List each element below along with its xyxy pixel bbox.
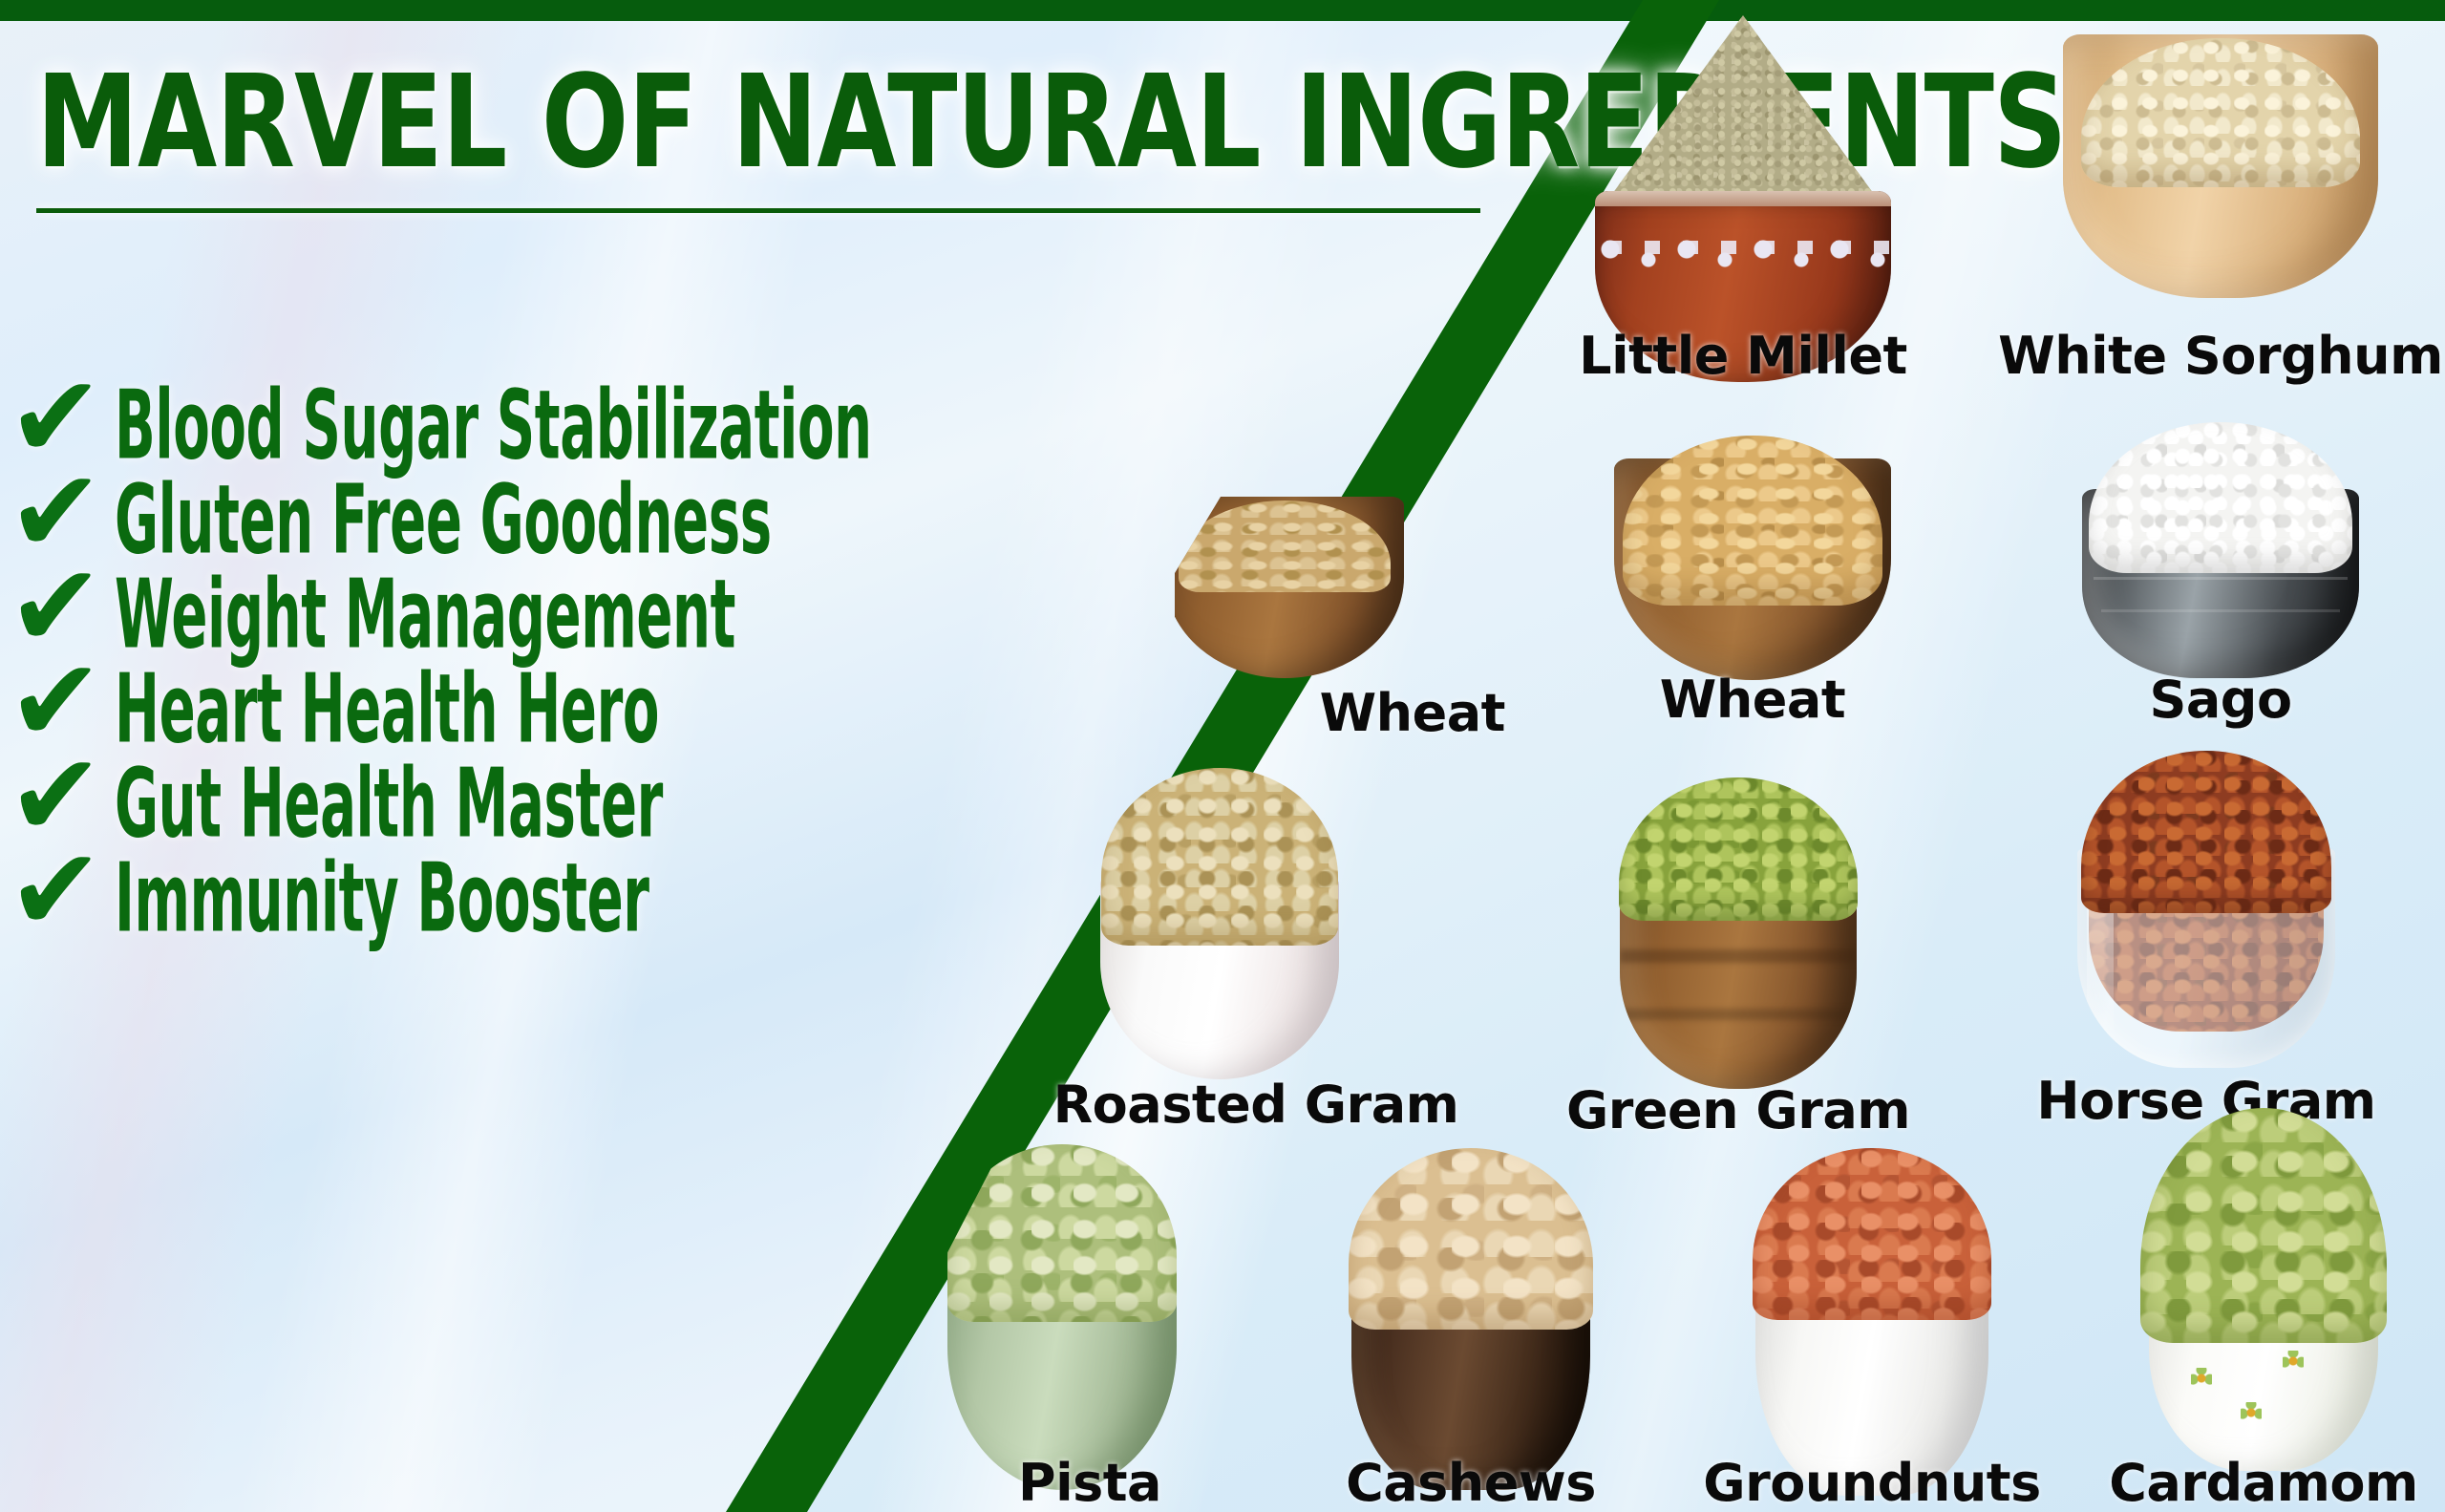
ingredient-label: Wheat [1660,670,1845,730]
ingredient-label: Little Millet [1579,326,1907,386]
food-heap [947,1144,1177,1322]
ingredient-label: White Sorghum [1998,326,2443,386]
floral-motif [2241,1402,2262,1423]
ingredient-cell-pista: Pista [869,1127,1270,1509]
bowl-ridge [2094,577,2348,580]
ingredient-label: Roasted Gram [1053,1075,1459,1135]
bowl-dot-pattern [1595,229,1891,269]
ingredient-cell-white-sorghum: White Sorghum [1996,13,2445,382]
ingredient-cell-wheat-1: Wheat [1175,458,1519,745]
floral-motif [2191,1368,2212,1389]
ingredient-cell-green-gram: Green Gram [1514,755,1963,1137]
floral-motif [2283,1351,2304,1372]
ingredient-label: Cardamom [2109,1453,2417,1512]
bowl-stage [869,1127,1270,1509]
ingredient-label: Sago [2149,670,2291,730]
bowl-stage [1270,1127,1671,1509]
bowl-stage [2073,1098,2445,1509]
food-heap [1619,777,1858,921]
poster-canvas: MARVEL OF NATURAL INGREDIENTS ✔ Blood Su… [0,0,2445,1512]
ingredient-cell-cardamom: Cardamom [2073,1098,2445,1509]
bowl-stage [1514,755,1963,1137]
wood-grain [1620,949,1857,963]
bowl-ridge [2101,609,2340,612]
food-heap [1101,768,1338,946]
wood-grain [1620,1009,1857,1020]
food-heap [2089,422,2352,573]
food-heap [1349,1148,1593,1330]
ingredient-cell-horse-gram: Horse Gram [1982,735,2431,1127]
ingredient-cell-cashews: Cashews [1270,1127,1671,1509]
ingredient-cell-wheat-2: Wheat [1528,401,1977,726]
ingredient-cell-groundnuts: Groundnuts [1671,1127,2073,1509]
ingredient-label: Cashews [1346,1453,1596,1512]
ingredient-label: Wheat [1320,683,1505,743]
food-heap [1753,1148,1991,1320]
bowl-rim [1595,191,1891,206]
ingredient-cell-sago: Sago [1996,401,2445,726]
food-heap [1605,15,1882,204]
food-heap [2140,1108,2387,1343]
ingredient-cell-little-millet: Little Millet [1519,10,1967,382]
ingredient-grid: Little Millet White Sorghum Wheat [0,0,2445,1512]
bowl-stage [1671,1127,2073,1509]
ingredient-label: Pista [1018,1453,1161,1509]
ingredient-label: Groundnuts [1703,1453,2040,1512]
bowl-stage [1982,735,2431,1127]
food-heap [2081,751,2331,913]
ingredient-cell-roasted-gram: Roasted Gram [1031,755,1480,1137]
